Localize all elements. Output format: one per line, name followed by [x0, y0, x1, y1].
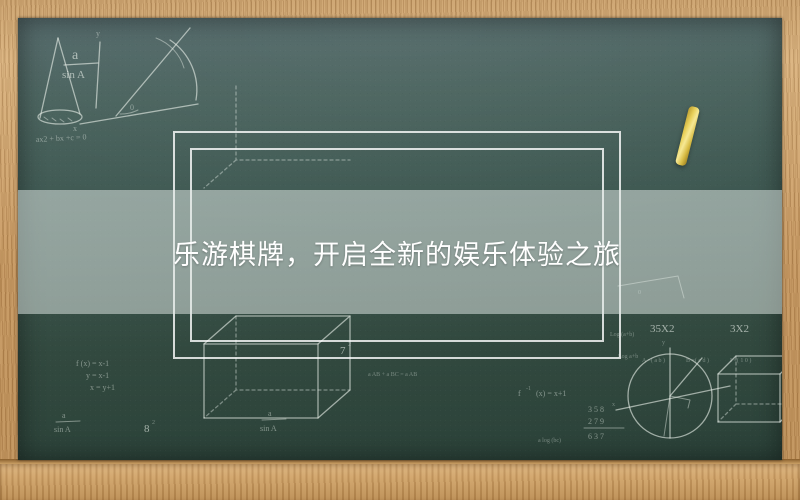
svg-text:(x) = x+1: (x) = x+1	[536, 389, 566, 398]
svg-text:a: a	[62, 411, 66, 420]
svg-text:0: 0	[130, 103, 134, 112]
mult-35x2: 35X2	[650, 323, 674, 335]
quadratic-formula: ax2 + bx +c = 0	[36, 132, 87, 144]
svg-text:x: x	[612, 402, 615, 408]
circle-axes-diagram: y x	[612, 340, 730, 438]
svg-text:f (x) = x-1: f (x) = x-1	[76, 359, 109, 368]
svg-text:x: x	[73, 124, 77, 133]
svg-text:sin A: sin A	[54, 425, 71, 434]
svg-text:y = x-1: y = x-1	[86, 371, 109, 380]
svg-text:2: 2	[152, 420, 155, 426]
svg-text:x = y+1: x = y+1	[90, 383, 115, 392]
fraction-a-over-sinA-bottomleft: a sin A	[54, 411, 80, 434]
svg-text:a: a	[268, 409, 272, 418]
svg-text:y: y	[96, 29, 100, 38]
svg-text:sin A: sin A	[260, 424, 277, 433]
cone-diagram	[38, 38, 82, 124]
chalk-stick-floating-icon	[675, 106, 700, 167]
inverse-function-equation: f -1 (x) = x+1	[518, 386, 566, 398]
power-eight-squared: 8 2	[144, 420, 155, 435]
chalkboard-banner-image: a sin A ax2 + bx +c = 0 y x 0	[0, 0, 800, 500]
fraction-a-over-sinA-center: a sin A	[260, 409, 286, 433]
svg-text:3 5 8: 3 5 8	[588, 405, 604, 414]
svg-text:sin A: sin A	[62, 69, 85, 81]
svg-text:y: y	[662, 340, 665, 346]
svg-text:A =( a b ): A =( a b )	[642, 357, 665, 364]
function-equations: f (x) = x-1 y = x-1 x = y+1	[76, 359, 115, 392]
mult-3x2: 3X2	[730, 323, 749, 335]
chalk-ledge	[0, 464, 800, 500]
svg-text:a: a	[72, 48, 79, 63]
svg-text:-1: -1	[526, 386, 531, 392]
svg-text:B =( c d ): B =( c d )	[686, 357, 709, 364]
svg-text:8: 8	[144, 423, 150, 435]
page-title: 乐游棋牌，开启全新的娱乐体验之旅	[18, 233, 621, 272]
svg-text:f: f	[518, 389, 521, 398]
title-banner: 乐游棋牌，开启全新的娱乐体验之旅	[18, 190, 782, 314]
angle-construction-diagram: y x 0	[73, 28, 198, 133]
svg-text:I =( 1 0 ): I =( 1 0 )	[730, 357, 751, 364]
column-addition: 3 5 8 2 7 9 6 3 7	[584, 405, 624, 441]
matrix-notations: A =( a b ) B =( c d ) I =( 1 0 )	[642, 357, 751, 364]
chalkboard-surface: a sin A ax2 + bx +c = 0 y x 0	[18, 18, 782, 460]
log-label: a log (bc)	[538, 437, 561, 444]
log-label-left: Log a+b	[618, 354, 638, 360]
fraction-a-over-sinA-topleft: a sin A	[62, 48, 98, 81]
small-vector-expression: a AB + a BC = a AB	[368, 372, 417, 378]
svg-text:2 7 9: 2 7 9	[588, 417, 604, 426]
svg-text:6 3 7: 6 3 7	[588, 432, 604, 441]
cube-diagram-right	[718, 356, 782, 422]
